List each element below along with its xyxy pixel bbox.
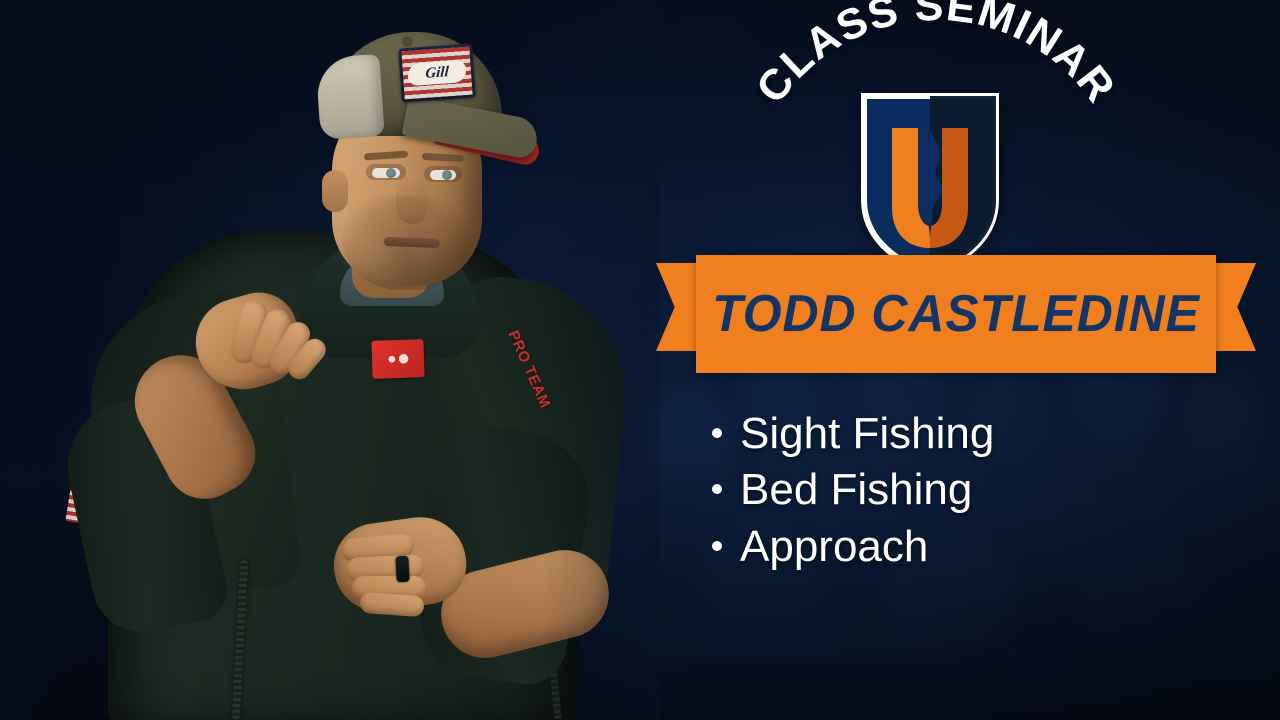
bullet-dot-icon <box>712 484 722 494</box>
nose <box>396 178 428 224</box>
seminar-logo-lockup: CLASS SEMINAR <box>620 0 1280 400</box>
gill-wordmark <box>407 60 466 86</box>
topic-list: Sight Fishing Bed Fishing Approach <box>712 406 1232 575</box>
university-shield-logo <box>856 88 1004 280</box>
seminar-slide: PRO TEAM <box>0 0 1280 720</box>
cap-button <box>402 36 413 47</box>
wedding-ring <box>395 556 409 583</box>
shield-svg <box>856 88 1004 280</box>
presenter-name-text: TODD CASTLEDINE <box>712 284 1200 344</box>
list-item-label: Approach <box>740 519 928 575</box>
gill-logo-patch <box>398 43 476 102</box>
list-item-label: Bed Fishing <box>740 462 972 518</box>
presenter-name-banner: TODD CASTLEDINE <box>656 255 1256 375</box>
right-finger <box>359 592 424 617</box>
iris <box>442 170 452 180</box>
banner-panel: TODD CASTLEDINE <box>696 255 1216 373</box>
list-item: Bed Fishing <box>712 462 1232 518</box>
letter-u-right-shade <box>930 88 1004 280</box>
presenter-photo: PRO TEAM <box>0 0 660 720</box>
cap-mesh-panel <box>315 54 385 140</box>
iris <box>386 168 396 178</box>
list-item-label: Sight Fishing <box>740 406 994 462</box>
bullet-dot-icon <box>712 428 722 438</box>
mouth <box>384 237 440 248</box>
list-item: Approach <box>712 519 1232 575</box>
bullet-dot-icon <box>712 541 722 551</box>
chest-sponsor-patch <box>371 339 424 379</box>
list-item: Sight Fishing <box>712 406 1232 462</box>
